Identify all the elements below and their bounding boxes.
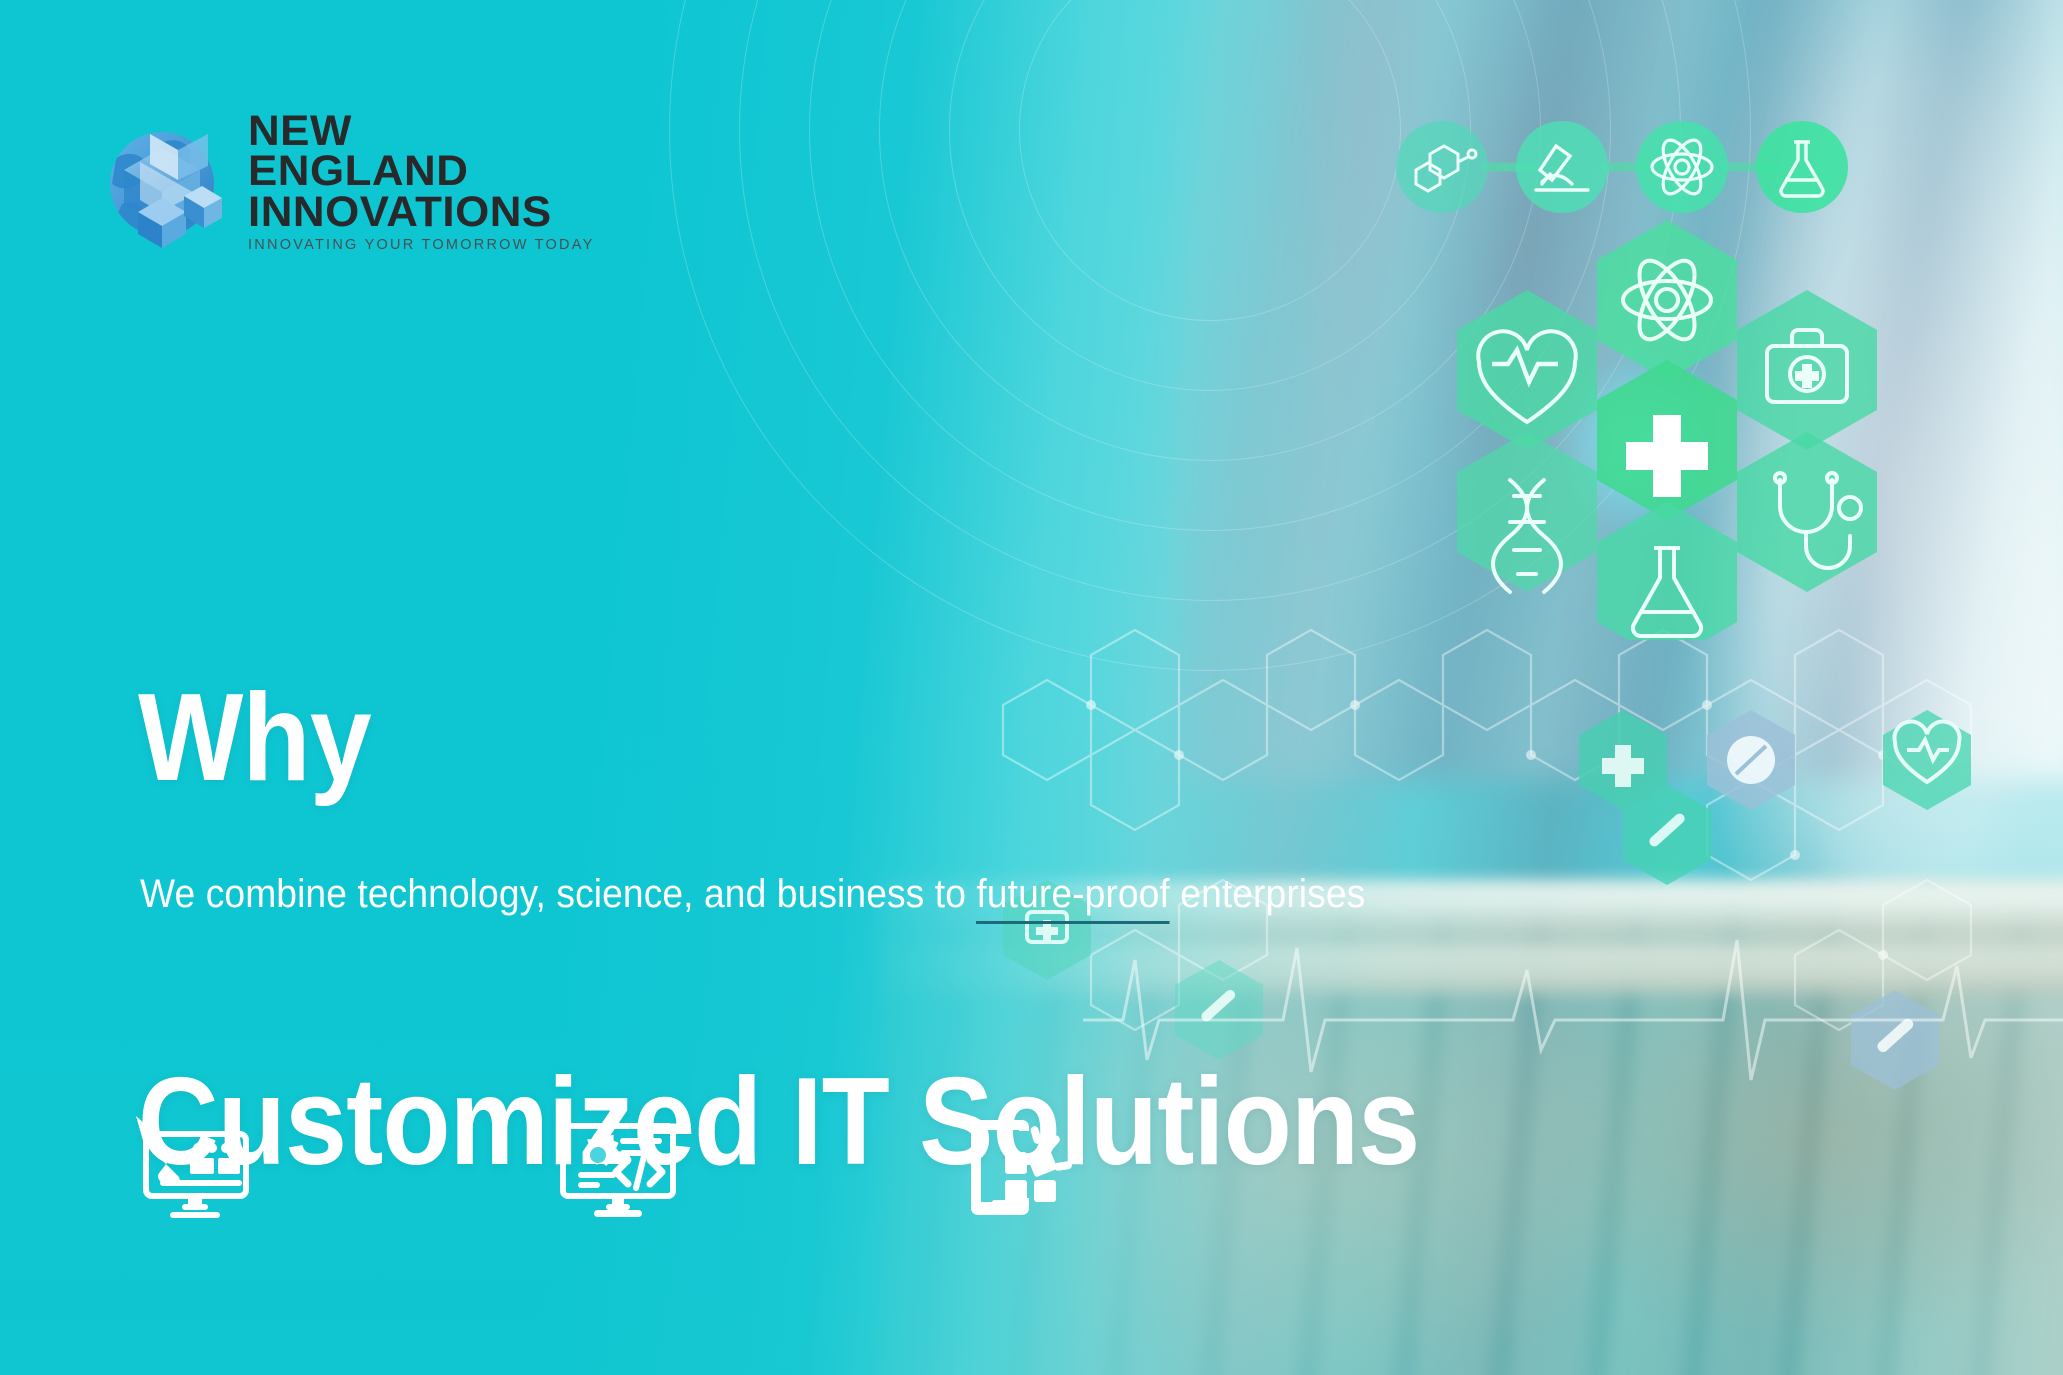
mobile-app-icon[interactable] [968, 1110, 1088, 1220]
hex-atom-icon [1597, 220, 1737, 380]
hex-stethoscope-icon [1737, 432, 1877, 592]
subtitle-highlight: future-proof [976, 872, 1169, 924]
brand-name-line3: INNOVATIONS [248, 192, 601, 232]
web-development-icon[interactable] [558, 1110, 678, 1220]
headline-line-2: Customized IT Solutions [138, 1059, 1500, 1187]
brand-logo[interactable]: NEW ENGLAND INNOVATIONS INNOVATING YOUR … [104, 108, 595, 256]
web-design-icon[interactable] [130, 1110, 250, 1220]
headline-line-1: Why [138, 675, 1500, 803]
globe-cube-logo-icon [104, 108, 226, 256]
hex-medical-cross-icon [1597, 360, 1737, 520]
hex-cluster-decoration [1432, 150, 1902, 640]
hex-first-aid-kit-icon [1737, 290, 1877, 450]
subtitle-text-before: We combine technology, science, and busi… [140, 872, 976, 916]
brand-name-line2: ENGLAND [248, 151, 601, 191]
hero-banner: NEW ENGLAND INNOVATIONS INNOVATING YOUR … [0, 0, 2063, 1375]
page-subtitle: We combine technology, science, and busi… [140, 872, 1365, 917]
brand-name-line1: NEW [248, 111, 601, 151]
hex-flask-icon [1597, 502, 1737, 640]
subtitle-text-after: enterprises [1170, 872, 1365, 916]
brand-wordmark: NEW ENGLAND INNOVATIONS INNOVATING YOUR … [248, 111, 595, 253]
brand-tagline: INNOVATING YOUR TOMORROW TODAY [248, 239, 595, 253]
